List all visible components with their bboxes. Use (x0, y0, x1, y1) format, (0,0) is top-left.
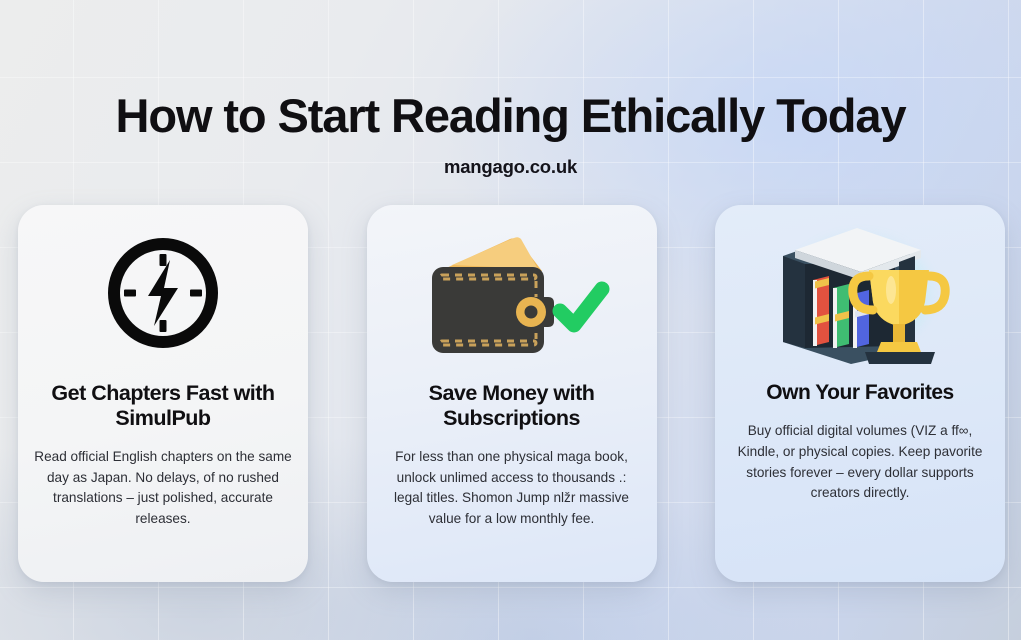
wallet-check-icon (414, 225, 610, 361)
card-title: Save Money with Subscriptions (367, 381, 657, 431)
feature-card-subscriptions[interactable]: Save Money with Subscriptions For less t… (367, 205, 657, 582)
header: How to Start Reading Ethically Today man… (0, 0, 1021, 178)
card-title: Get Chapters Fast with SimulPub (18, 381, 308, 431)
card-body: For less than one physical maga book, un… (367, 447, 657, 530)
card-icon-container (367, 205, 657, 381)
page-title: How to Start Reading Ethically Today (0, 92, 1021, 139)
feature-cards: Get Chapters Fast with SimulPub Read off… (18, 205, 1005, 582)
card-title: Own Your Favorites (748, 381, 971, 405)
bookshelf-trophy-icon (765, 218, 955, 368)
card-body: Buy official digital volumes (VIZ a ff∞,… (715, 421, 1005, 504)
feature-card-simulpub[interactable]: Get Chapters Fast with SimulPub Read off… (18, 205, 308, 582)
card-icon-container (715, 205, 1005, 381)
feature-card-own-favorites[interactable]: Own Your Favorites Buy official digital … (715, 205, 1005, 582)
card-body: Read official English chapters on the sa… (18, 447, 308, 530)
site-subtitle: mangago.co.uk (0, 156, 1021, 178)
card-icon-container (18, 205, 308, 381)
compass-lightning-icon (104, 234, 222, 352)
